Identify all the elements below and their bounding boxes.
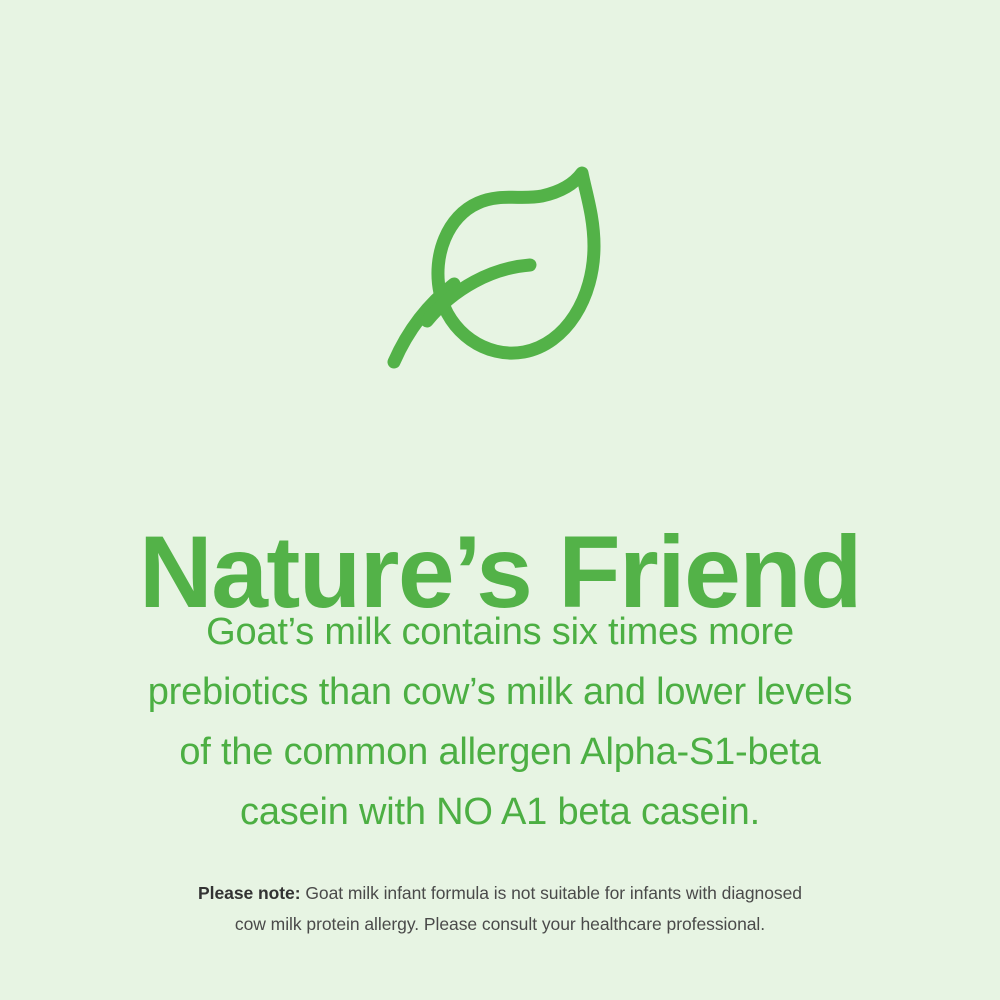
promo-card: Nature’s Friend Goat’s milk contains six…: [0, 0, 1000, 1000]
disclaimer: Please note: Goat milk infant formula is…: [120, 878, 880, 940]
leaf-icon: [382, 160, 618, 375]
body-copy: Goat’s milk contains six times more preb…: [100, 602, 900, 842]
body-line-4: casein with NO A1 beta casein.: [100, 782, 900, 842]
disclaimer-line-2: cow milk protein allergy. Please consult…: [120, 909, 880, 940]
body-line-1: Goat’s milk contains six times more: [100, 602, 900, 662]
leaf-icon-container: [0, 160, 1000, 375]
body-line-2: prebiotics than cow’s milk and lower lev…: [100, 662, 900, 722]
body-line-3: of the common allergen Alpha-S1-beta: [100, 722, 900, 782]
disclaimer-note-label: Please note:: [198, 883, 301, 903]
disclaimer-line-1-text: Goat milk infant formula is not suitable…: [301, 883, 802, 903]
disclaimer-line-1: Please note: Goat milk infant formula is…: [120, 878, 880, 909]
